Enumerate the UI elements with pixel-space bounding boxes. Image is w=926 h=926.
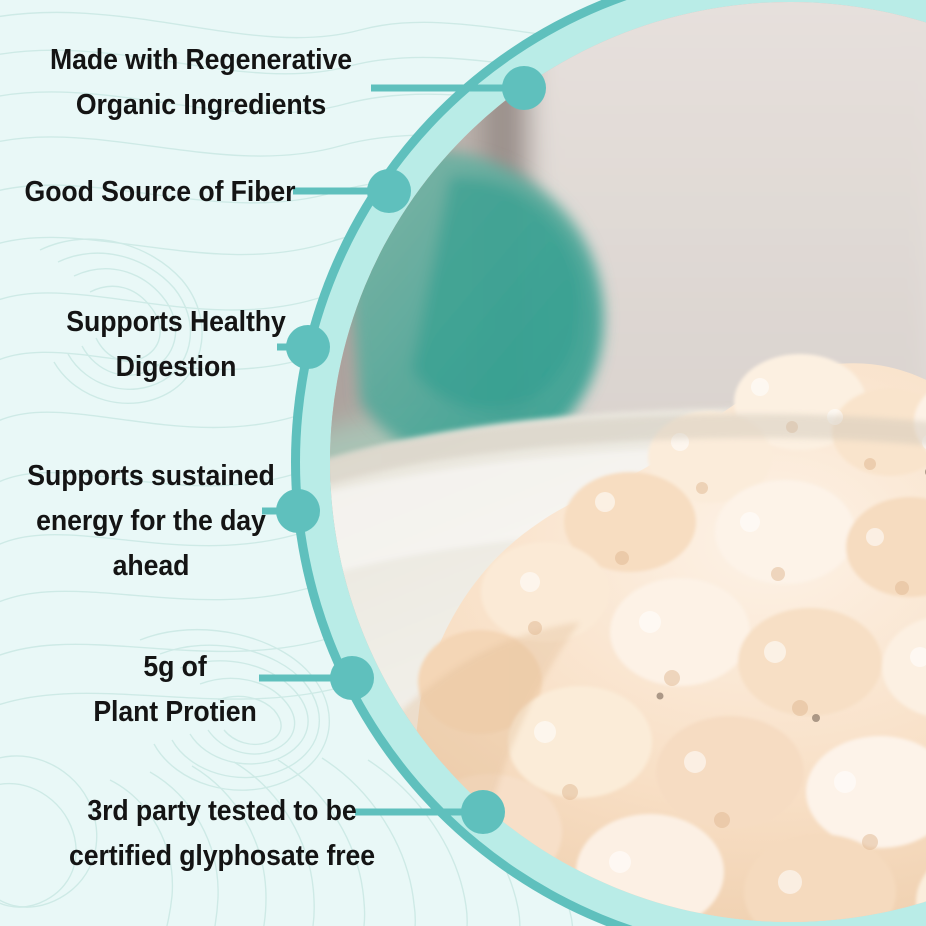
feature-label-plant-protein: 5g of Plant Protien	[14, 645, 336, 735]
feature-label-supports-healthy-digestion: Supports Healthy Digestion	[14, 300, 338, 390]
photo-medallion	[291, 0, 926, 926]
feature-label-regenerative-organic: Made with Regenerative Organic Ingredien…	[16, 38, 386, 128]
feature-label-supports-sustained-energy: Supports sustained energy for the day ah…	[12, 454, 290, 589]
feature-label-good-source-of-fiber: Good Source of Fiber	[13, 170, 307, 215]
product-benefits-infographic: Made with Regenerative Organic Ingredien…	[0, 0, 926, 926]
feature-label-glyphosate-free: 3rd party tested to be certified glyphos…	[18, 789, 426, 879]
